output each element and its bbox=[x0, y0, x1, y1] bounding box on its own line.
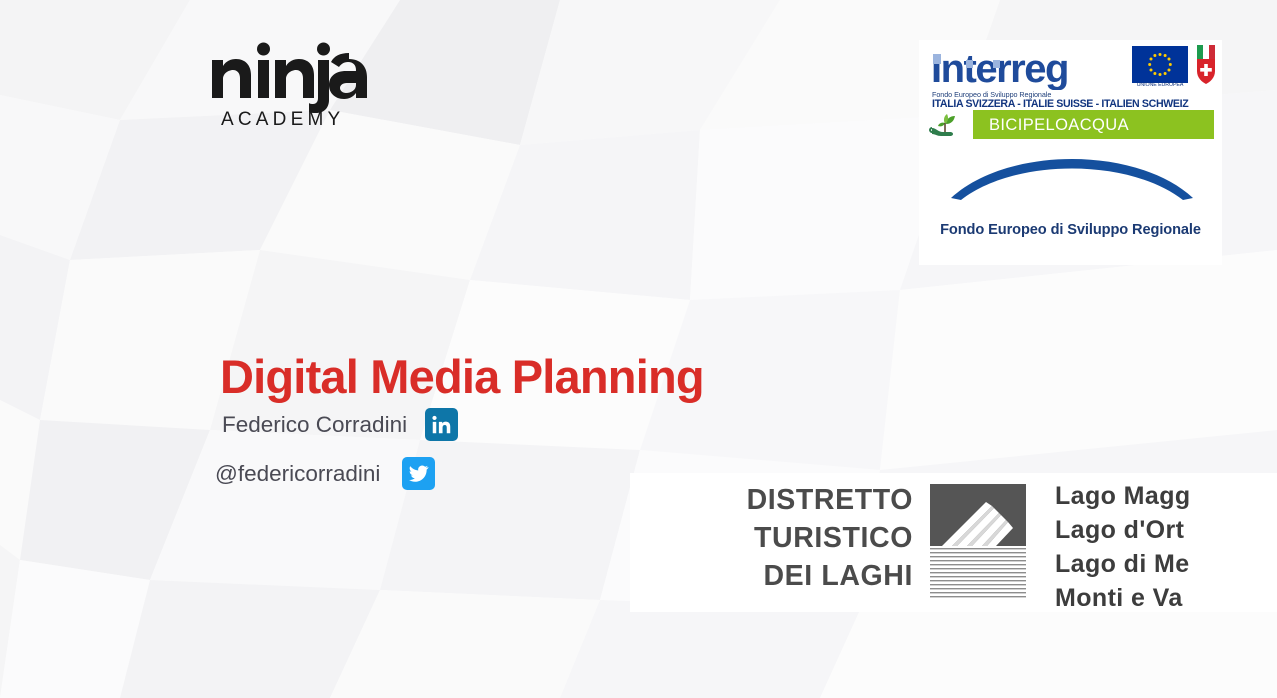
distretto-laghi-logo-card: DISTRETTO TURISTICO DEI LAGHI bbox=[630, 473, 1277, 612]
lake-line-1: Lago Magg bbox=[1055, 479, 1191, 513]
interreg-wordmark-icon: Interreg bbox=[931, 48, 1123, 90]
lake-line-4: Monti e Va bbox=[1055, 581, 1191, 612]
bicipeloacqua-row: BICIPELOACQUA bbox=[929, 110, 1214, 140]
author-handle-row: @federicorradini bbox=[215, 457, 435, 490]
eu-flag-label: UNIONE EUROPEA bbox=[1132, 82, 1188, 88]
ninja-academy-logo: ACADEMY bbox=[208, 38, 370, 130]
author-name: Federico Corradini bbox=[222, 412, 407, 438]
twitter-icon[interactable] bbox=[402, 457, 435, 490]
distretto-line-1: DISTRETTO bbox=[648, 481, 913, 519]
distretto-line-3: DEI LAGHI bbox=[648, 557, 913, 595]
hand-plant-icon bbox=[929, 111, 965, 139]
interreg-subtitle-bold: ITALIA SVIZZERA - ITALIE SUISSE - ITALIE… bbox=[932, 98, 1188, 110]
page-title: Digital Media Planning bbox=[220, 349, 704, 404]
interreg-logo-card: Interreg Fondo Europeo di Sviluppo Regio… bbox=[919, 40, 1222, 265]
lakes-list: Lago Magg Lago d'Ort Lago di Me Monti e … bbox=[1055, 479, 1191, 612]
linkedin-icon[interactable] bbox=[425, 408, 458, 441]
fesr-arc-icon bbox=[947, 148, 1197, 203]
lake-line-2: Lago d'Ort bbox=[1055, 513, 1191, 547]
bicipeloacqua-label: BICIPELOACQUA bbox=[989, 116, 1129, 135]
svg-text:ACADEMY: ACADEMY bbox=[221, 109, 344, 130]
author-handle: @federicorradini bbox=[215, 461, 380, 487]
fesr-label: Fondo Europeo di Sviluppo Regionale bbox=[919, 222, 1222, 238]
distretto-wordmark: DISTRETTO TURISTICO DEI LAGHI bbox=[648, 481, 913, 595]
presentation-slide: ACADEMY Interreg Fondo Europeo di Svil bbox=[0, 0, 1277, 698]
svg-text:Interreg: Interreg bbox=[931, 48, 1068, 90]
eu-flag-block: UNIONE EUROPEA bbox=[1132, 46, 1188, 89]
lake-mountain-mark-icon bbox=[930, 484, 1026, 599]
eu-flag-icon bbox=[1132, 46, 1188, 83]
author-name-row: Federico Corradini bbox=[222, 408, 458, 441]
italy-swiss-emblem-icon bbox=[1195, 44, 1217, 88]
lake-line-3: Lago di Me bbox=[1055, 547, 1191, 581]
bicipeloacqua-bar: BICIPELOACQUA bbox=[973, 110, 1214, 139]
distretto-line-2: TURISTICO bbox=[648, 519, 913, 557]
